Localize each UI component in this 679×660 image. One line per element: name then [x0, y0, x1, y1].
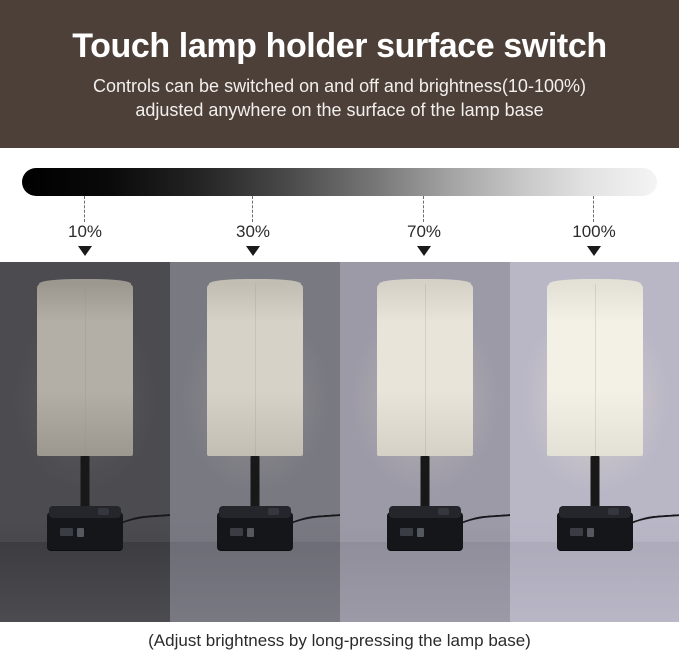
lamp-base — [557, 512, 633, 550]
header-subtitle-line-1: Controls can be switched on and off and … — [93, 74, 586, 98]
outlet-port-icon — [98, 508, 109, 515]
usb-port-icon — [400, 528, 413, 536]
lamp-shade — [37, 284, 133, 456]
outlet-port-icon — [608, 508, 619, 515]
usb-port-icon — [570, 528, 583, 536]
lamp-base-top — [559, 506, 631, 518]
lamp-base-top — [49, 506, 121, 518]
usb-port-icon — [60, 528, 73, 536]
outlet-port-icon — [438, 508, 449, 515]
lamp-base — [387, 512, 463, 550]
triangle-down-icon — [417, 246, 431, 256]
triangle-down-icon — [246, 246, 260, 256]
product-infographic: Touch lamp holder surface switch Control… — [0, 0, 679, 660]
lamp-panel-70 — [340, 262, 510, 622]
tick-dash-icon — [84, 196, 85, 222]
base-switch-icon — [247, 528, 254, 537]
lamp-shade — [207, 284, 303, 456]
usb-port-icon — [230, 528, 243, 536]
outlet-port-icon — [268, 508, 279, 515]
lamp-base-top — [219, 506, 291, 518]
lamp-brightness-panels — [0, 262, 679, 622]
page-title: Touch lamp holder surface switch — [72, 26, 606, 66]
tick-dash-icon — [423, 196, 424, 222]
lamp-shade-seam — [595, 284, 596, 456]
lamp-shade — [547, 284, 643, 456]
lamp-base — [217, 512, 293, 550]
lamp-panel-10 — [0, 262, 170, 622]
base-switch-icon — [587, 528, 594, 537]
lamp-base — [47, 512, 123, 550]
lamp-panel-30 — [170, 262, 340, 622]
lamp-shade — [377, 284, 473, 456]
lamp-panel-100 — [510, 262, 679, 622]
tick-label-100: 100% — [534, 222, 654, 242]
triangle-down-icon — [78, 246, 92, 256]
table-lamp — [25, 284, 145, 584]
header-banner: Touch lamp holder surface switch Control… — [0, 0, 679, 148]
lamp-shade-seam — [425, 284, 426, 456]
tick-label-70: 70% — [364, 222, 484, 242]
caption-text: (Adjust brightness by long-pressing the … — [148, 631, 531, 651]
footer-caption: (Adjust brightness by long-pressing the … — [0, 622, 679, 660]
table-lamp — [535, 284, 655, 584]
tick-label-30: 30% — [193, 222, 313, 242]
table-lamp — [195, 284, 315, 584]
tick-label-10: 10% — [25, 222, 145, 242]
tick-dash-icon — [593, 196, 594, 222]
header-subtitle-line-2: adjusted anywhere on the surface of the … — [93, 98, 586, 122]
triangle-down-icon — [587, 246, 601, 256]
base-switch-icon — [417, 528, 424, 537]
tick-dash-icon — [252, 196, 253, 222]
header-subtitle: Controls can be switched on and off and … — [93, 74, 586, 122]
table-lamp — [365, 284, 485, 584]
lamp-base-top — [389, 506, 461, 518]
brightness-scale: 10% 30% 70% 100% — [0, 148, 679, 262]
lamp-shade-seam — [255, 284, 256, 456]
base-switch-icon — [77, 528, 84, 537]
brightness-gradient-bar — [22, 168, 657, 196]
lamp-shade-seam — [85, 284, 86, 456]
